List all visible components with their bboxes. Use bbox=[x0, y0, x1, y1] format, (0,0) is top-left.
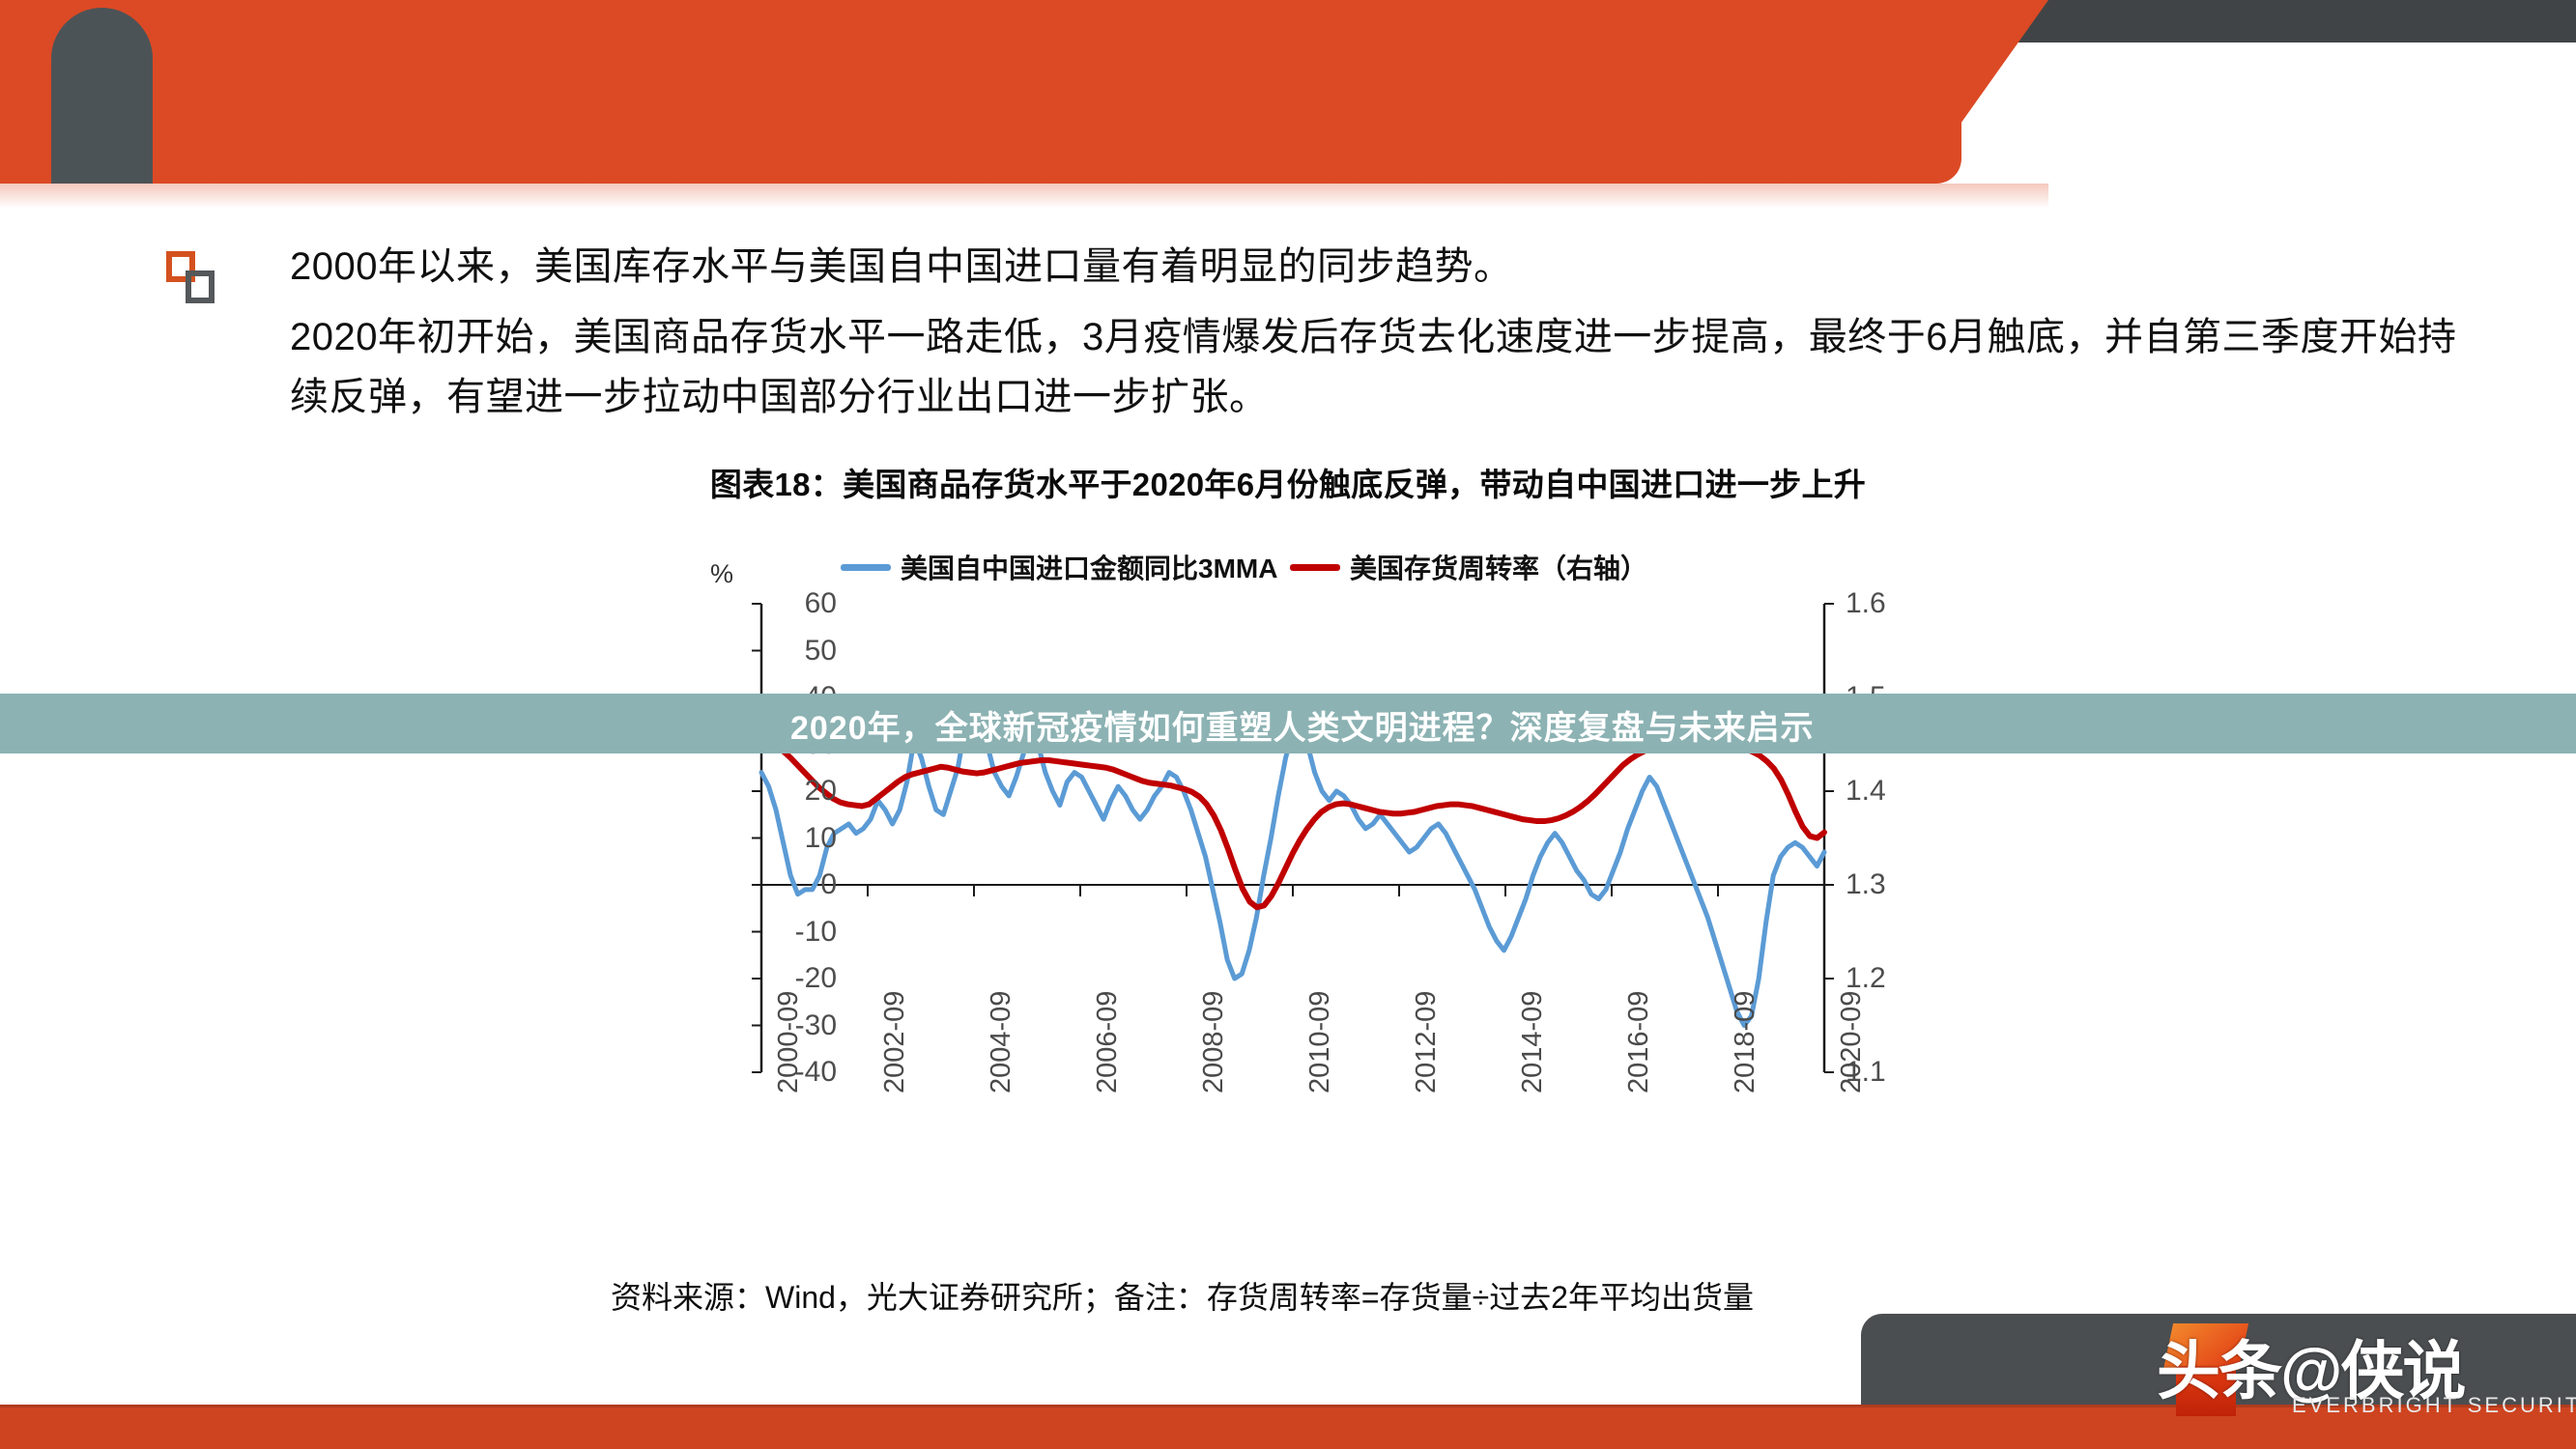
series-plot bbox=[761, 604, 1824, 1072]
chart-figure: % 美国自中国进口金额同比3MMA 美国存货周转率（右轴） 6050403020… bbox=[676, 546, 1952, 1241]
y2-axis-tick-label: 1.6 bbox=[1846, 587, 1932, 620]
x-axis-tick-label: 2008-09 bbox=[1198, 991, 1230, 1094]
x-axis-tick-label: 2006-09 bbox=[1092, 991, 1124, 1094]
x-axis-tick-label: 2010-09 bbox=[1304, 991, 1336, 1094]
series-line-1 bbox=[761, 745, 1824, 908]
watermark-en-text: EVERBRIGHT SECURITIES bbox=[2292, 1393, 2576, 1418]
double-square-bullet-icon bbox=[166, 251, 218, 305]
arch-decoration-icon bbox=[51, 8, 153, 184]
y-axis-tick-label: 10 bbox=[750, 822, 837, 855]
y-axis-tick-label: 20 bbox=[750, 775, 837, 808]
banner-shadow bbox=[0, 184, 2048, 209]
plot-region: 6050403020100-10-20-30-40 1.61.51.41.31.… bbox=[761, 604, 1824, 1072]
y-axis-tick-label: -10 bbox=[750, 916, 837, 949]
x-axis-tick-label: 2014-09 bbox=[1517, 991, 1549, 1094]
legend-swatch-blue-icon bbox=[841, 564, 891, 571]
slide-canvas: 2000年以来，美国库存水平与美国自中国进口量有着明显的同步趋势。 2020年初… bbox=[0, 0, 2576, 1449]
x-axis-tick-label: 2002-09 bbox=[879, 991, 911, 1094]
x-axis-tick-label: 2020-09 bbox=[1836, 991, 1868, 1094]
watermark: 头条@侠说 EVERBRIGHT SECURITIES bbox=[2151, 1314, 2537, 1428]
y-axis-tick-label: 50 bbox=[750, 635, 837, 668]
y-axis-unit-label: % bbox=[710, 559, 733, 589]
bullet-square-gray bbox=[186, 270, 215, 303]
x-axis-tick-label: 2000-09 bbox=[773, 991, 805, 1094]
legend-label-turnover: 美国存货周转率（右轴） bbox=[1350, 548, 1647, 586]
y-axis-tick-label: 0 bbox=[750, 868, 837, 901]
x-axis-tick-label: 2018-09 bbox=[1730, 991, 1761, 1094]
y-axis-tick-label: 60 bbox=[750, 587, 837, 620]
series-line-0 bbox=[761, 707, 1824, 1026]
legend-swatch-red-icon bbox=[1290, 564, 1340, 571]
x-axis-tick-label: 2012-09 bbox=[1411, 991, 1443, 1094]
y2-axis-tick-label: 1.3 bbox=[1846, 868, 1932, 901]
source-note: 资料来源：Wind，光大证券研究所；备注：存货周转率=存货量÷过去2年平均出货量 bbox=[611, 1273, 1754, 1318]
top-orange-banner-round bbox=[0, 0, 1961, 184]
legend-item-turnover: 美国存货周转率（右轴） bbox=[1290, 548, 1647, 586]
legend-item-import: 美国自中国进口金额同比3MMA bbox=[841, 548, 1277, 586]
y2-axis-tick-label: 1.4 bbox=[1846, 775, 1932, 808]
legend-label-import: 美国自中国进口金额同比3MMA bbox=[901, 548, 1277, 586]
chart-title: 图表18：美国商品存货水平于2020年6月份触底反弹，带动自中国进口进一步上升 bbox=[0, 459, 2576, 505]
overlay-headline: 2020年，全球新冠疫情如何重塑人类文明进程？深度复盘与未来启示 bbox=[790, 701, 1815, 749]
x-axis-tick-label: 2016-09 bbox=[1623, 991, 1655, 1094]
chart-legend: % 美国自中国进口金额同比3MMA 美国存货周转率（右轴） bbox=[730, 546, 1889, 588]
paragraph-2: 2020年初开始，美国商品存货水平一路走低，3月疫情爆发后存货去化速度进一步提高… bbox=[290, 307, 2483, 427]
paragraph-1: 2000年以来，美国库存水平与美国自中国进口量有着明显的同步趋势。 bbox=[290, 237, 1512, 297]
x-axis-tick-label: 2004-09 bbox=[986, 991, 1017, 1094]
